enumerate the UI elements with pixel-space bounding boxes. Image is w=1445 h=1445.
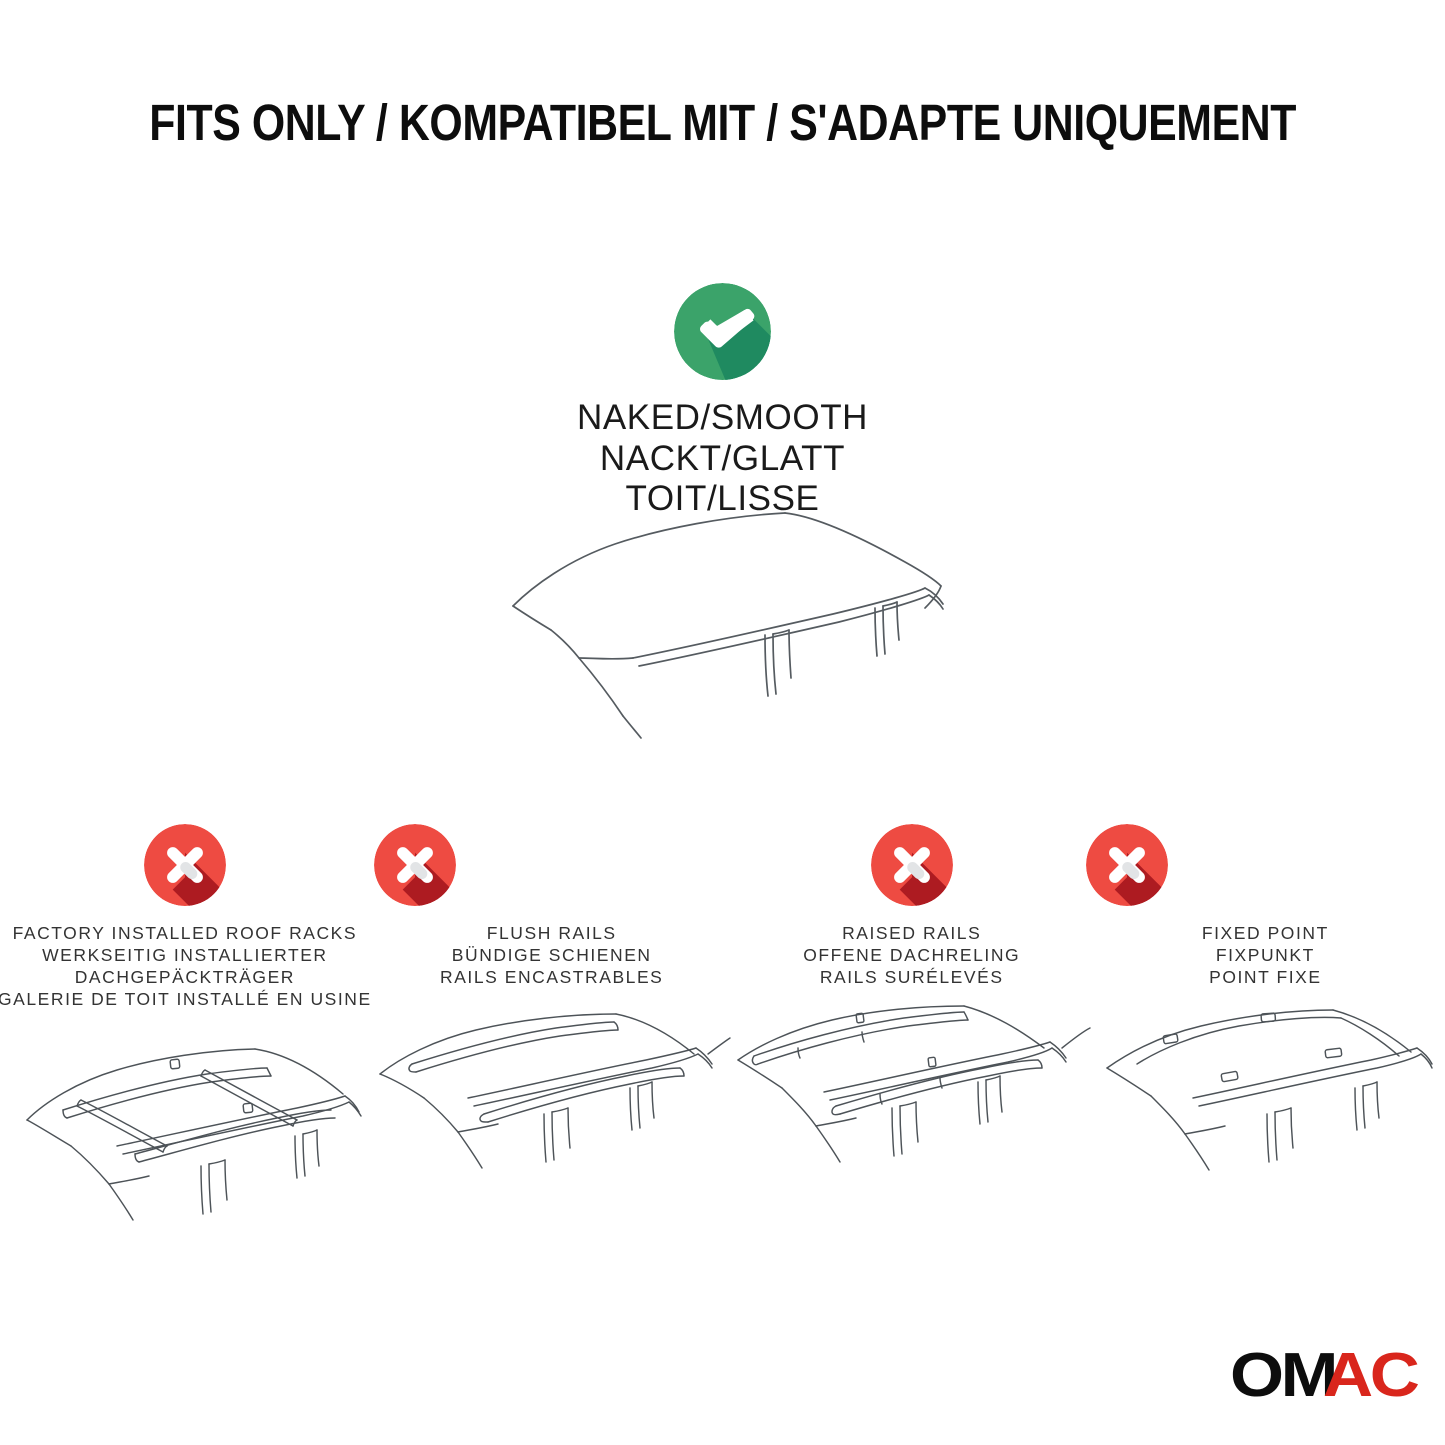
- caption-line-en: FLUSH RAILS: [372, 922, 732, 944]
- caption-line-en: FACTORY INSTALLED ROOF RACKS: [0, 922, 372, 944]
- red-x-circle-icon: [871, 824, 953, 906]
- page-title: FITS ONLY / KOMPATIBEL MIT / S'ADAPTE UN…: [149, 96, 1296, 150]
- incompatible-item-flush-rails: FLUSH RAILS BÜNDIGE SCHIENEN RAILS ENCAS…: [372, 824, 732, 1252]
- incompatible-caption: FLUSH RAILS BÜNDIGE SCHIENEN RAILS ENCAS…: [372, 922, 732, 988]
- caption-line-de-2: DACHGEPÄCKTRÄGER: [0, 966, 372, 988]
- red-x-circle-icon: [144, 824, 226, 906]
- caption-line-de: FIXPUNKT: [1086, 944, 1445, 966]
- incompatible-caption: FACTORY INSTALLED ROOF RACKS WERKSEITIG …: [0, 922, 372, 1010]
- smooth-roof-illustration: [0, 488, 1445, 758]
- raised-rails-illustration: [732, 1002, 1092, 1252]
- caption-line-de: OFFENE DACHRELING: [732, 944, 1092, 966]
- brand-name-dark: OM: [1230, 1345, 1335, 1407]
- caption-line-fr: GALERIE DE TOIT INSTALLÉ EN USINE: [0, 988, 372, 1010]
- caption-line-en: NAKED/SMOOTH: [0, 398, 1445, 439]
- caption-line-de: NACKT/GLATT: [0, 439, 1445, 480]
- incompatible-item-raised-rails: RAISED RAILS OFFENE DACHRELING RAILS SUR…: [732, 824, 1092, 1252]
- caption-line-fr: RAILS ENCASTRABLES: [372, 966, 732, 988]
- caption-line-de: BÜNDIGE SCHIENEN: [372, 944, 732, 966]
- caption-line-fr: POINT FIXE: [1086, 966, 1445, 988]
- incompatible-item-factory-roof-racks: FACTORY INSTALLED ROOF RACKS WERKSEITIG …: [0, 824, 372, 1274]
- compatible-roof-type-block: NAKED/SMOOTH NACKT/GLATT TOIT/LISSE: [0, 283, 1445, 520]
- caption-line-de-1: WERKSEITIG INSTALLIERTER: [0, 944, 372, 966]
- brand-name-accent: AC: [1323, 1345, 1417, 1407]
- caption-line-en: RAISED RAILS: [732, 922, 1092, 944]
- caption-line-en: FIXED POINT: [1086, 922, 1445, 944]
- red-x-circle-icon: [1086, 824, 1168, 906]
- title-bar: FITS ONLY / KOMPATIBEL MIT / S'ADAPTE UN…: [0, 96, 1445, 150]
- incompatible-item-fixed-point: FIXED POINT FIXPUNKT POINT FIXE: [1092, 824, 1445, 1252]
- incompatible-caption: RAISED RAILS OFFENE DACHRELING RAILS SUR…: [732, 922, 1092, 988]
- incompatible-caption: FIXED POINT FIXPUNKT POINT FIXE: [1086, 922, 1445, 988]
- green-check-circle-icon: [674, 283, 771, 380]
- incompatible-roof-types-row: FACTORY INSTALLED ROOF RACKS WERKSEITIG …: [0, 824, 1445, 1274]
- red-x-circle-icon: [374, 824, 456, 906]
- fixed-point-illustration: [1092, 1002, 1445, 1252]
- factory-roof-rack-illustration: [0, 1024, 372, 1274]
- caption-line-fr: RAILS SURÉLEVÉS: [732, 966, 1092, 988]
- brand-logo: OM AC: [1230, 1345, 1407, 1407]
- flush-rails-illustration: [372, 1002, 732, 1252]
